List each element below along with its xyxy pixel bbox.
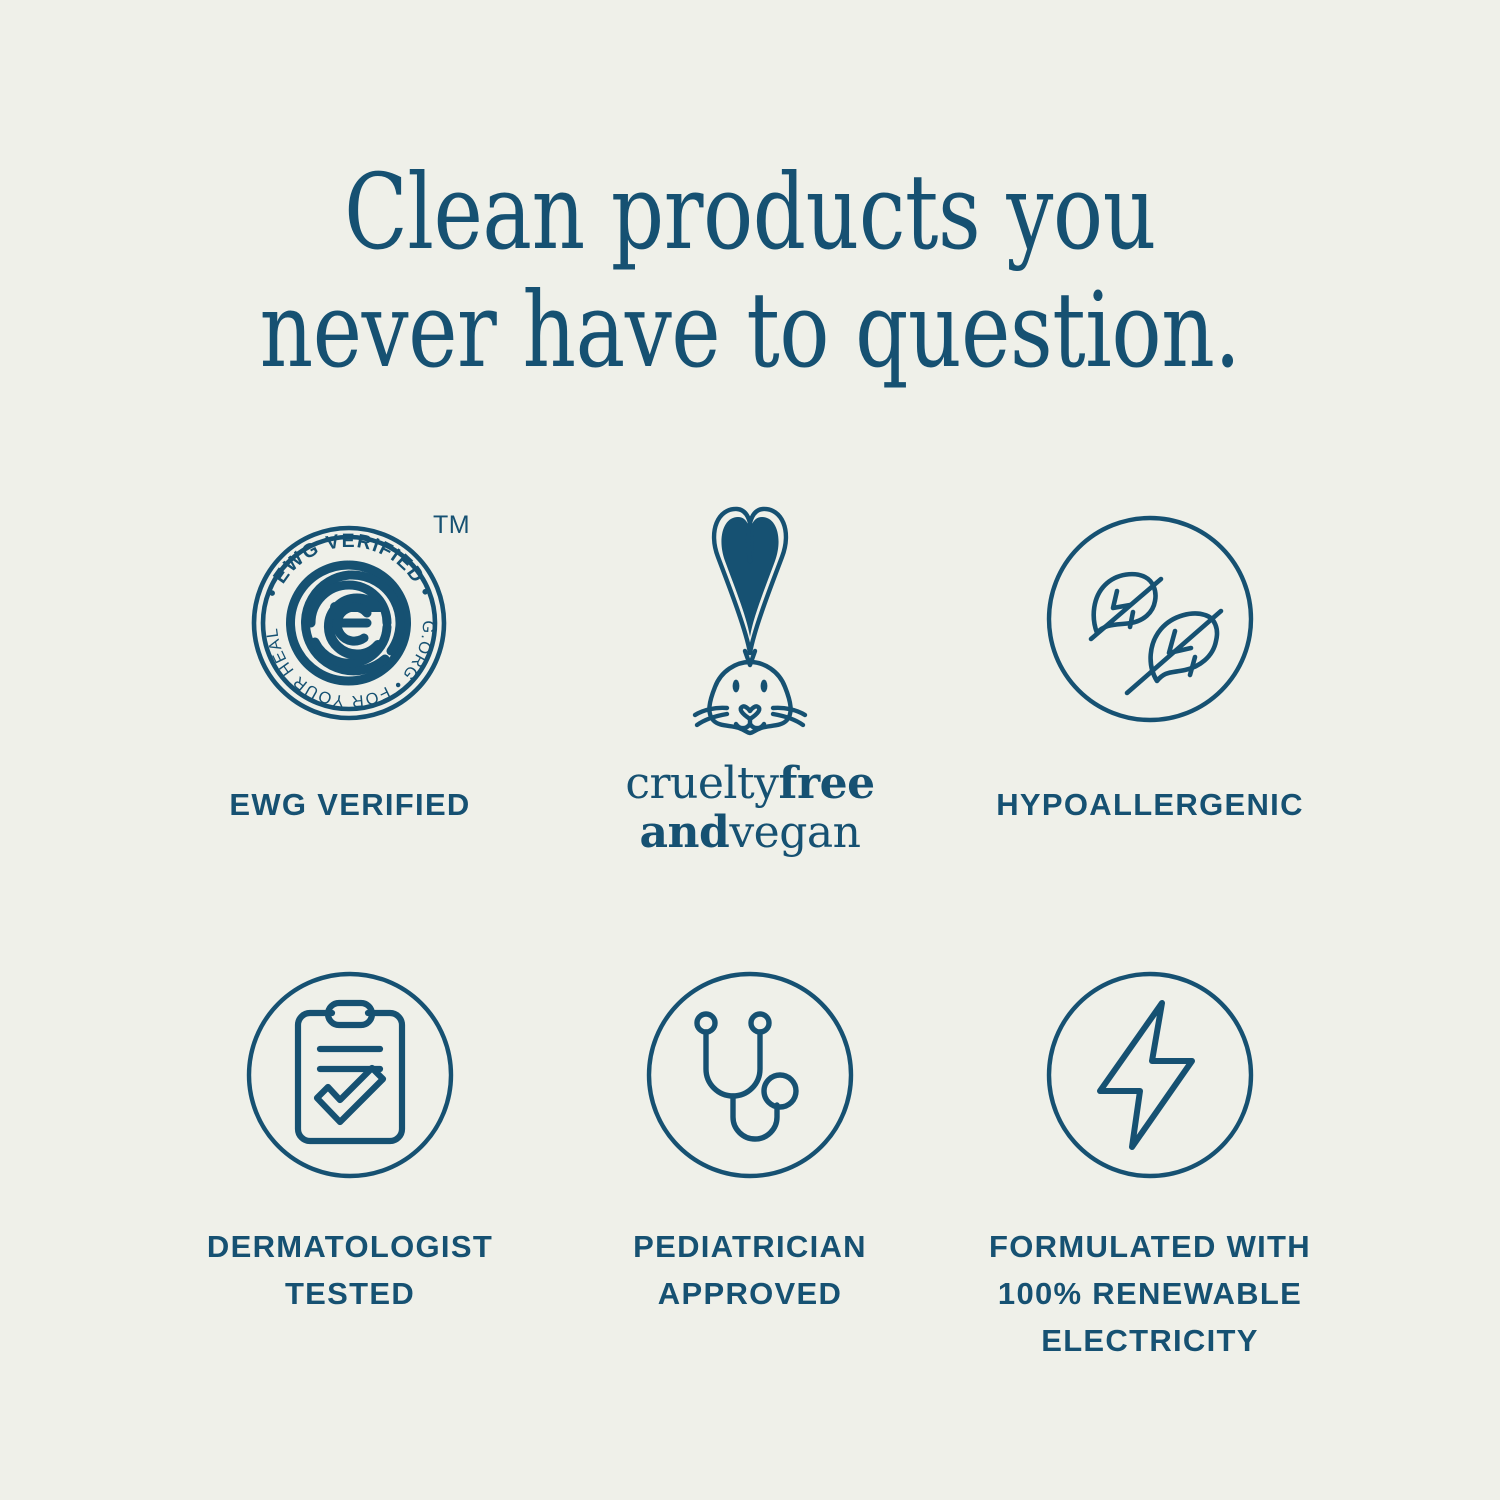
badge-grid: • EWG VERIFIED • EWG.ORG • FOR YOUR HEAL…	[150, 505, 1350, 1364]
trademark-symbol: TM	[433, 511, 470, 539]
badge-dermatologist-tested[interactable]: DERMATOLOGIST TESTED	[150, 958, 550, 1364]
badge-artwork	[1035, 505, 1265, 755]
page-title-line-2: never have to question.	[150, 278, 1350, 382]
badge-label: EWG VERIFIED	[229, 781, 470, 828]
claims-badge-panel: Clean products you never have to questio…	[0, 0, 1500, 1500]
badge-ewg-verified[interactable]: • EWG VERIFIED • EWG.ORG • FOR YOUR HEAL…	[150, 505, 550, 858]
wordmark-free: free	[779, 758, 875, 809]
badge-label-line: DERMATOLOGIST	[207, 1223, 493, 1270]
wordmark-vegan: vegan	[729, 807, 860, 858]
badge-artwork: • EWG VERIFIED • EWG.ORG • FOR YOUR HEAL…	[235, 505, 465, 755]
badge-label: DERMATOLOGIST TESTED	[207, 1223, 493, 1317]
badge-label: FORMULATED WITH 100% RENEWABLE ELECTRICI…	[989, 1223, 1311, 1364]
wordmark-cruelty: cruelty	[625, 758, 778, 809]
badge-label-line: APPROVED	[633, 1270, 867, 1317]
badge-artwork	[640, 958, 860, 1193]
badge-label-line: TESTED	[207, 1270, 493, 1317]
badge-pediatrician-approved[interactable]: PEDIATRICIAN APPROVED	[550, 958, 950, 1364]
ewg-verified-seal-icon: • EWG VERIFIED • EWG.ORG • FOR YOUR HEAL…	[235, 505, 465, 741]
rabbit-heart-ears-icon	[635, 505, 865, 755]
badge-label: PEDIATRICIAN APPROVED	[633, 1223, 867, 1317]
wordmark-and: and	[640, 807, 730, 858]
badge-label-line: 100% RENEWABLE	[989, 1270, 1311, 1317]
two-feathers-circle-icon	[1035, 505, 1265, 741]
page-title: Clean products you never have to questio…	[150, 160, 1350, 382]
badge-label-line: EWG VERIFIED	[229, 781, 470, 828]
badge-label-line: FORMULATED WITH	[989, 1223, 1311, 1270]
badge-artwork	[635, 505, 865, 755]
badge-renewable-electricity[interactable]: FORMULATED WITH 100% RENEWABLE ELECTRICI…	[950, 958, 1350, 1364]
wordmark-line-1: crueltyfree	[625, 759, 874, 808]
badge-label: HYPOALLERGENIC	[996, 781, 1304, 828]
badge-label-line: HYPOALLERGENIC	[996, 781, 1304, 828]
bolt-shape	[1100, 1003, 1192, 1147]
lightning-bolt-circle-icon	[1040, 965, 1260, 1185]
page-title-line-1: Clean products you	[150, 160, 1350, 264]
badge-artwork	[1040, 958, 1260, 1193]
badge-cruelty-free-and-vegan[interactable]: crueltyfree andvegan	[550, 505, 950, 858]
stethoscope-circle-icon	[640, 965, 860, 1185]
clipboard-checkmark-circle-icon	[240, 965, 460, 1185]
badge-label-line: PEDIATRICIAN	[633, 1223, 867, 1270]
badge-hypoallergenic[interactable]: HYPOALLERGENIC	[950, 505, 1350, 858]
wordmark-line-2: andvegan	[625, 808, 874, 857]
badge-label-line: ELECTRICITY	[989, 1317, 1311, 1364]
cruelty-free-wordmark: crueltyfree andvegan	[625, 759, 874, 858]
badge-artwork	[240, 958, 460, 1193]
